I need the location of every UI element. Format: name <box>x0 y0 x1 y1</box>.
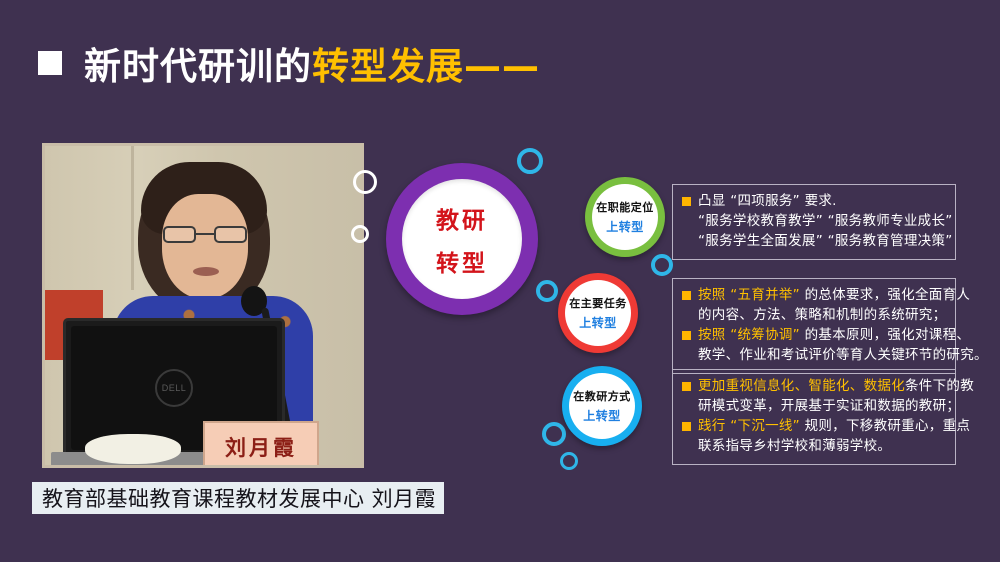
bullet-square-icon <box>682 422 691 431</box>
node-label-bottom: 上转型 <box>583 407 621 424</box>
caption-text: 教育部基础教育课程教材发展中心 刘月霞 <box>42 483 436 513</box>
plain-text: “服务学生全面发展” “服务教育管理决策” <box>698 233 953 249</box>
square-bullet-icon <box>38 51 62 75</box>
plain-text: 联系指导乡村学校和薄弱学校。 <box>698 438 891 454</box>
slide-canvas: 新时代研训的转型发展—— DELL 刘月霞 <box>0 0 1000 562</box>
paper-sheet <box>85 434 181 464</box>
name-plate: 刘月霞 <box>203 421 319 468</box>
wall-seam <box>131 146 134 290</box>
bullet-square-icon <box>682 291 691 300</box>
decorative-ring <box>351 225 369 243</box>
node-label-bottom: 上转型 <box>579 314 617 331</box>
plain-text: 条件下的教 <box>905 378 974 394</box>
text-line-content: “服务学生全面发展” “服务教育管理决策” <box>698 232 953 251</box>
plain-text: 规则，下移教研重心，重点 <box>805 418 971 434</box>
node-inner: 在主要任务 上转型 <box>565 280 631 346</box>
text-line-content: 践行 “下沉一线” 规则，下移教研重心，重点 <box>698 417 970 436</box>
plain-text: “服务学校教育教学” “服务教师专业成长” <box>698 213 953 229</box>
text-line-content: 的内容、方法、策略和机制的系统研究； <box>698 306 946 325</box>
plain-text: 的基本原则，强化对课程、 <box>805 327 971 343</box>
text-line: 联系指导乡村学校和薄弱学校。 <box>682 437 946 456</box>
highlighted-text: 更加重视信息化、智能化、数据化 <box>698 378 905 394</box>
speaker-photo: DELL 刘月霞 <box>42 143 364 468</box>
decorative-ring <box>517 148 543 174</box>
plain-text: 的总体要求，强化全面育人 <box>805 287 971 303</box>
text-line-content: 凸显 “四项服务” 要求. <box>698 192 837 211</box>
text-line-content: 更加重视信息化、智能化、数据化条件下的教 <box>698 377 974 396</box>
speaker-mouth <box>193 267 219 276</box>
speaker-face <box>162 194 248 299</box>
node-inner: 在教研方式 上转型 <box>569 373 635 439</box>
text-line: “服务学生全面发展” “服务教育管理决策” <box>682 232 946 251</box>
text-line: 研模式变革，开展基于实证和数据的教研； <box>682 397 946 416</box>
text-line-content: 按照 “五育并举” 的总体要求，强化全面育人 <box>698 286 970 305</box>
bullet-square-icon <box>682 197 691 206</box>
plain-text: 教学、作业和考试评价等育人关键环节的研究。 <box>698 347 988 363</box>
laptop-brand-logo: DELL <box>155 369 193 407</box>
text-line: 按照 “五育并举” 的总体要求，强化全面育人 <box>682 286 946 305</box>
plain-text: 的内容、方法、策略和机制的系统研究； <box>698 307 946 323</box>
text-line-content: 教学、作业和考试评价等育人关键环节的研究。 <box>698 346 988 365</box>
glasses-bridge <box>196 233 214 235</box>
text-box-research-method: 更加重视信息化、智能化、数据化条件下的教研模式变革，开展基于实证和数据的教研；践… <box>672 369 956 465</box>
decorative-ring <box>542 422 566 446</box>
text-line: 教学、作业和考试评价等育人关键环节的研究。 <box>682 346 946 365</box>
hub-line-1: 教研 <box>436 201 488 235</box>
node-label-top: 在教研方式 <box>573 388 631 404</box>
node-label-top: 在职能定位 <box>596 199 654 215</box>
decorative-ring <box>353 170 377 194</box>
plain-text: 凸显 “四项服务” 要求. <box>698 193 837 209</box>
photo-content: DELL 刘月霞 <box>45 146 361 465</box>
photo-caption: 教育部基础教育课程教材发展中心 刘月霞 <box>32 482 444 514</box>
text-line: 的内容、方法、策略和机制的系统研究； <box>682 306 946 325</box>
node-label-bottom: 上转型 <box>606 218 644 235</box>
node-inner: 在职能定位 上转型 <box>592 184 658 250</box>
hub-line-2: 转型 <box>436 244 488 278</box>
highlighted-text: 按照 “统筹协调” <box>698 327 805 343</box>
title-text: 新时代研训的转型发展—— <box>84 36 540 90</box>
text-line-content: “服务学校教育教学” “服务教师专业成长” <box>698 212 953 231</box>
title-plain: 新时代研训的 <box>84 45 312 88</box>
text-box-main-tasks: 按照 “五育并举” 的总体要求，强化全面育人的内容、方法、策略和机制的系统研究；… <box>672 278 956 374</box>
node-label-top: 在主要任务 <box>569 295 627 311</box>
highlighted-text: 践行 “下沉一线” <box>698 418 805 434</box>
hub-inner: 教研 转型 <box>402 179 522 299</box>
bullet-square-icon <box>682 331 691 340</box>
bullet-square-icon <box>682 382 691 391</box>
decorative-ring <box>536 280 558 302</box>
text-line-content: 研模式变革，开展基于实证和数据的教研； <box>698 397 960 416</box>
title-accent: 转型发展—— <box>312 45 540 88</box>
text-line: “服务学校教育教学” “服务教师专业成长” <box>682 212 946 231</box>
text-line: 按照 “统筹协调” 的基本原则，强化对课程、 <box>682 326 946 345</box>
decorative-ring <box>651 254 673 276</box>
hub-circle: 教研 转型 <box>386 163 538 315</box>
text-line: 凸显 “四项服务” 要求. <box>682 192 946 211</box>
text-line: 更加重视信息化、智能化、数据化条件下的教 <box>682 377 946 396</box>
page-title: 新时代研训的转型发展—— <box>38 36 540 90</box>
text-box-job-positioning: 凸显 “四项服务” 要求.“服务学校教育教学” “服务教师专业成长”“服务学生全… <box>672 184 956 260</box>
text-line-content: 按照 “统筹协调” 的基本原则，强化对课程、 <box>698 326 970 345</box>
highlighted-text: 按照 “五育并举” <box>698 287 805 303</box>
glasses-icon <box>163 226 247 243</box>
decorative-ring <box>560 452 578 470</box>
node-circle-job-positioning[interactable]: 在职能定位 上转型 <box>585 177 665 257</box>
node-circle-main-tasks[interactable]: 在主要任务 上转型 <box>558 273 638 353</box>
text-line: 践行 “下沉一线” 规则，下移教研重心，重点 <box>682 417 946 436</box>
plain-text: 研模式变革，开展基于实证和数据的教研； <box>698 398 960 414</box>
text-line-content: 联系指导乡村学校和薄弱学校。 <box>698 437 891 456</box>
name-plate-text: 刘月霞 <box>225 432 297 462</box>
node-circle-research-method[interactable]: 在教研方式 上转型 <box>562 366 642 446</box>
